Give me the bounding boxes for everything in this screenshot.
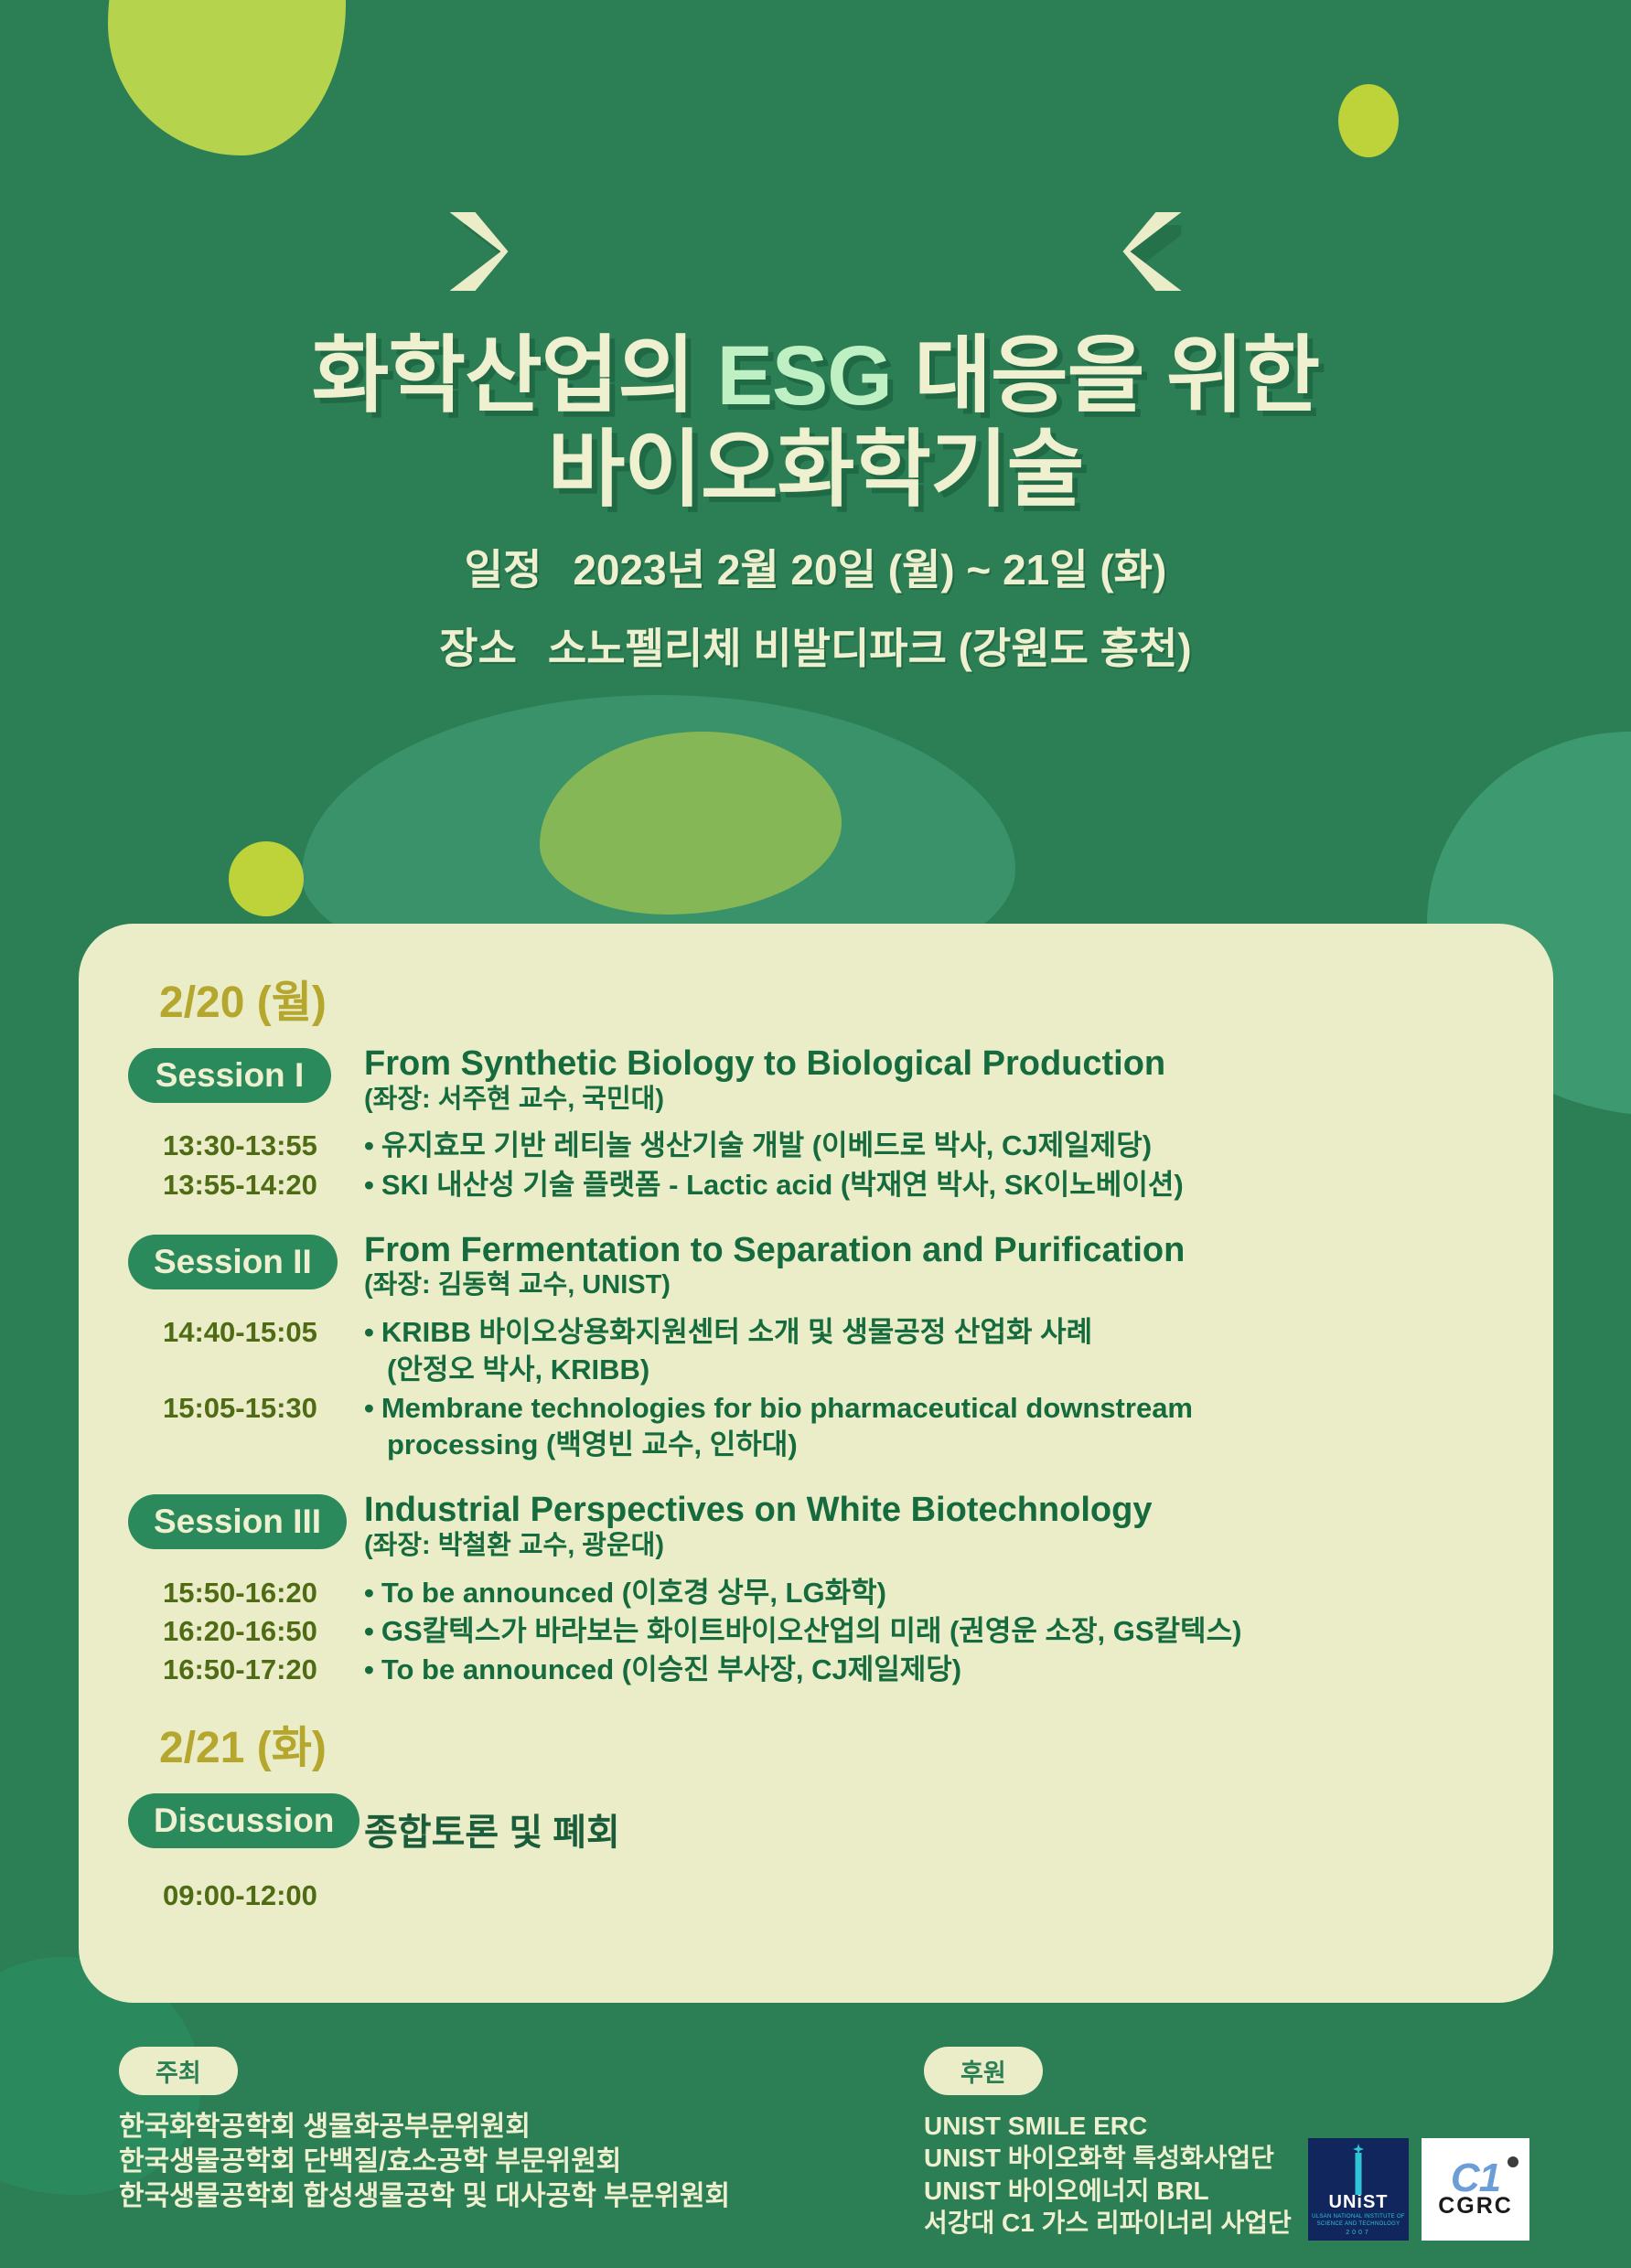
- agenda-row-time: 13:55-14:20: [128, 1167, 357, 1204]
- decorative-blob-mid-olive: [540, 732, 842, 915]
- agenda-row-time: 13:30-13:55: [128, 1128, 357, 1164]
- sponsor-list: UNIST SMILE ERC UNIST 바이오화학 특성화사업단 UNIST…: [924, 2110, 1292, 2239]
- title-esg-accent: ESG: [717, 329, 892, 423]
- agenda-row: 14:40-15:05 •KRIBB 바이오상용화지원센터 소개 및 생물공정 …: [128, 1314, 1504, 1388]
- ribbon-shape: [450, 212, 1182, 291]
- host-item: 한국생물공학회 단백질/효소공학 부문위원회: [119, 2145, 730, 2179]
- session-3-title: Industrial Perspectives on White Biotech…: [364, 1491, 1504, 1530]
- agenda-row: 15:50-16:20 •To be announced (이호경 상무, LG…: [128, 1575, 1504, 1611]
- discussion-text: 종합토론 및 폐회: [364, 1790, 1504, 1856]
- decorative-dot-top-right: [1338, 84, 1399, 157]
- ribbon-label: 79회 생물화공 심포지엄: [450, 212, 1182, 291]
- session-1-pill-col: Session I: [128, 1044, 357, 1115]
- agenda-row-cont: (안정오 박사, KRIBB): [364, 1352, 1504, 1388]
- session-2-rows: 14:40-15:05 •KRIBB 바이오상용화지원센터 소개 및 생물공정 …: [128, 1314, 1504, 1463]
- agenda-row-cont: processing (백영빈 교수, 인하대): [364, 1427, 1504, 1463]
- sponsor-item: UNIST 바이오에너지 BRL: [924, 2175, 1292, 2207]
- host-list: 한국화학공학회 생물화공부문위원회 한국생물공학회 단백질/효소공학 부문위원회…: [119, 2110, 730, 2213]
- unist-year: 2007: [1346, 2230, 1371, 2236]
- discussion-pill[interactable]: Discussion: [128, 1793, 359, 1848]
- agenda-row-label: GS칼텍스가 바라보는 화이트바이오산업의 미래 (권영운 소장, GS칼텍스): [381, 1615, 1242, 1647]
- agenda-row-text: •KRIBB 바이오상용화지원센터 소개 및 생물공정 산업화 사례 (안정오 …: [357, 1314, 1504, 1388]
- day2-heading: 2/21 (화): [159, 1711, 1504, 1775]
- decorative-blob-top-left: [108, 0, 346, 155]
- host-item: 한국화학공학회 생물화공부문위원회: [119, 2110, 730, 2145]
- discussion-pill-col: Discussion: [128, 1790, 357, 1856]
- host-column: 주최 한국화학공학회 생물화공부문위원회 한국생물공학회 단백질/효소공학 부문…: [119, 2047, 730, 2213]
- agenda-row-text: •To be announced (이호경 상무, LG화학): [357, 1575, 1504, 1611]
- unist-subtitle: ULSAN NATIONAL INSTITUTE OF SCIENCE AND …: [1308, 2214, 1409, 2228]
- sponsor-column: 후원 UNIST SMILE ERC UNIST 바이오화학 특성화사업단 UN…: [924, 2047, 1292, 2239]
- bullet-icon: •: [364, 1615, 374, 1647]
- discussion-block: Discussion 종합토론 및 폐회: [128, 1790, 1504, 1856]
- agenda-row: 16:50-17:20 •To be announced (이승진 부사장, C…: [128, 1652, 1504, 1688]
- event-date-value: 2023년 2월 20일 (월) ~ 21일 (화): [573, 546, 1166, 594]
- bullet-icon: •: [364, 1316, 374, 1348]
- event-meta: 일정2023년 2월 20일 (월) ~ 21일 (화) 장소소노펠리체 비발디…: [0, 549, 1631, 706]
- bullet-icon: •: [364, 1653, 374, 1685]
- ribbon-shadow: [463, 225, 1195, 304]
- unist-pillar-icon: [1356, 2153, 1362, 2195]
- agenda-row-time: 15:50-16:20: [128, 1575, 357, 1611]
- title-line-1: 화학산업의 ESG 대응을 위한: [0, 329, 1631, 423]
- event-place-value: 소노펠리체 비발디파크 (강원도 홍천): [548, 625, 1192, 672]
- session-1-pill[interactable]: Session I: [128, 1048, 331, 1103]
- agenda-row-label: To be announced (이호경 상무, LG화학): [381, 1577, 886, 1609]
- bullet-icon: •: [364, 1129, 374, 1161]
- session-1-chair: (좌장: 서주현 교수, 국민대): [364, 1084, 1504, 1116]
- unist-logo: UNiST ULSAN NATIONAL INSTITUTE OF SCIENC…: [1308, 2138, 1409, 2241]
- sponsor-tag: 후원: [924, 2047, 1043, 2095]
- event-place-label: 장소: [439, 625, 517, 672]
- bullet-icon: •: [364, 1169, 374, 1201]
- sponsor-item: 서강대 C1 가스 리파이너리 사업단: [924, 2207, 1292, 2239]
- session-3-pill-col: Session III: [128, 1491, 357, 1561]
- agenda-row: 13:55-14:20 •SKI 내산성 기술 플랫폼 - Lactic aci…: [128, 1167, 1504, 1204]
- host-item: 한국생물공학회 합성생물공학 및 대사공학 부문위원회: [119, 2179, 730, 2214]
- title-line-1-part2: 대응을 위한: [892, 329, 1319, 423]
- session-2-pill[interactable]: Session II: [128, 1235, 338, 1289]
- sponsor-item: UNIST SMILE ERC: [924, 2110, 1292, 2142]
- cgrc-wordmark: CGRC: [1438, 2195, 1513, 2218]
- host-tag: 주최: [119, 2047, 238, 2095]
- session-block-1: Session I From Synthetic Biology to Biol…: [128, 1044, 1504, 1115]
- agenda-row: 13:30-13:55 •유지효모 기반 레티놀 생산기술 개발 (이베드로 박…: [128, 1128, 1504, 1164]
- session-2-pill-col: Session II: [128, 1231, 357, 1301]
- agenda-row-text: •유지효모 기반 레티놀 생산기술 개발 (이베드로 박사, CJ제일제당): [357, 1128, 1504, 1164]
- agenda-row: 15:05-15:30 •Membrane technologies for b…: [128, 1390, 1504, 1464]
- bullet-icon: •: [364, 1392, 374, 1424]
- agenda-row-text: •SKI 내산성 기술 플랫폼 - Lactic acid (박재연 박사, S…: [357, 1167, 1504, 1204]
- agenda-card: 2/20 (월) Session I From Synthetic Biolog…: [79, 924, 1553, 2003]
- session-1-rows: 13:30-13:55 •유지효모 기반 레티놀 생산기술 개발 (이베드로 박…: [128, 1128, 1504, 1204]
- logo-strip: UNiST ULSAN NATIONAL INSTITUTE OF SCIENC…: [1308, 2138, 1529, 2241]
- cgrc-logo: C1 CGRC: [1422, 2138, 1529, 2241]
- session-3-chair: (좌장: 박철환 교수, 광운대): [364, 1530, 1504, 1562]
- event-ribbon: 79회 생물화공 심포지엄: [0, 212, 1631, 291]
- agenda-row-label: SKI 내산성 기술 플랫폼 - Lactic acid (박재연 박사, SK…: [381, 1169, 1184, 1201]
- agenda-row-label: KRIBB 바이오상용화지원센터 소개 및 생물공정 산업화 사례: [381, 1316, 1092, 1348]
- unist-wordmark: UNiST: [1329, 2193, 1389, 2211]
- agenda-row-label: Membrane technologies for bio pharmaceut…: [381, 1392, 1193, 1424]
- agenda-row-text: •Membrane technologies for bio pharmaceu…: [357, 1390, 1504, 1464]
- decorative-dot-mid-left: [229, 841, 304, 916]
- agenda-row: 16:20-16:50 •GS칼텍스가 바라보는 화이트바이오산업의 미래 (권…: [128, 1613, 1504, 1650]
- agenda-row-time: 14:40-15:05: [128, 1314, 357, 1388]
- bullet-icon: •: [364, 1577, 374, 1609]
- agenda-row-label: To be announced (이승진 부사장, CJ제일제당): [381, 1653, 961, 1685]
- title-line-2: 바이오화학기술: [0, 423, 1631, 518]
- agenda-row-time: 16:20-16:50: [128, 1613, 357, 1650]
- session-2-body: From Fermentation to Separation and Puri…: [357, 1231, 1504, 1301]
- session-3-pill[interactable]: Session III: [128, 1494, 347, 1549]
- day1-heading: 2/20 (월): [159, 966, 1504, 1030]
- agenda-row-text: •To be announced (이승진 부사장, CJ제일제당): [357, 1652, 1504, 1688]
- title-line-1-part1: 화학산업의: [312, 329, 717, 423]
- discussion-time: 09:00-12:00: [128, 1879, 1504, 1912]
- session-3-body: Industrial Perspectives on White Biotech…: [357, 1491, 1504, 1561]
- discussion-body: 종합토론 및 폐회: [357, 1790, 1504, 1856]
- session-1-body: From Synthetic Biology to Biological Pro…: [357, 1044, 1504, 1115]
- sponsor-item: UNIST 바이오화학 특성화사업단: [924, 2142, 1292, 2174]
- session-block-2: Session II From Fermentation to Separati…: [128, 1231, 1504, 1301]
- session-1-title: From Synthetic Biology to Biological Pro…: [364, 1044, 1504, 1084]
- cgrc-dot-icon: [1508, 2156, 1518, 2167]
- poster-title: 화학산업의 ESG 대응을 위한 바이오화학기술: [0, 329, 1631, 518]
- cgrc-c1-mark: C1: [1451, 2161, 1500, 2195]
- agenda-row-time: 16:50-17:20: [128, 1652, 357, 1688]
- session-2-title: From Fermentation to Separation and Puri…: [364, 1231, 1504, 1270]
- agenda-row-time: 15:05-15:30: [128, 1390, 357, 1464]
- session-2-chair: (좌장: 김동혁 교수, UNIST): [364, 1269, 1504, 1301]
- event-date-row: 일정2023년 2월 20일 (월) ~ 21일 (화): [0, 549, 1631, 591]
- agenda-row-text: •GS칼텍스가 바라보는 화이트바이오산업의 미래 (권영운 소장, GS칼텍스…: [357, 1613, 1504, 1650]
- agenda-row-label: 유지효모 기반 레티놀 생산기술 개발 (이베드로 박사, CJ제일제당): [381, 1129, 1152, 1161]
- session-3-rows: 15:50-16:20 •To be announced (이호경 상무, LG…: [128, 1575, 1504, 1689]
- event-place-row: 장소소노펠리체 비발디파크 (강원도 홍천): [0, 627, 1631, 669]
- session-block-3: Session III Industrial Perspectives on W…: [128, 1491, 1504, 1561]
- event-date-label: 일정: [465, 546, 542, 594]
